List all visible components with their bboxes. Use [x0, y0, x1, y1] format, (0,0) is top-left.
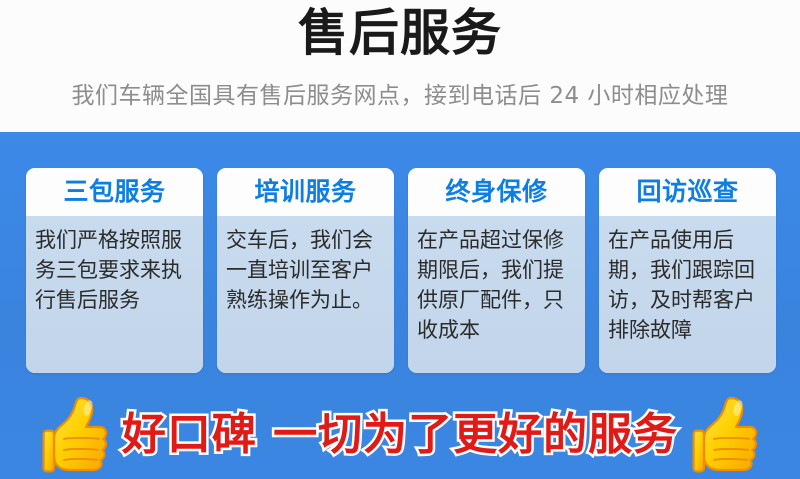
service-card-2[interactable]: 培训服务 交车后，我们会一直培训至客户熟练操作为止。 — [217, 168, 394, 373]
header-section: 售后服务 我们车辆全国具有售后服务网点，接到电话后 24 小时相应处理 — [0, 0, 800, 132]
service-cards-row: 三包服务 我们严格按照服务三包要求来执行售后服务 培训服务 交车后，我们会一直培… — [26, 168, 776, 373]
service-card-4-header: 回访巡查 — [599, 168, 776, 216]
service-card-1[interactable]: 三包服务 我们严格按照服务三包要求来执行售后服务 — [26, 168, 203, 373]
service-card-2-title: 培训服务 — [254, 178, 356, 206]
service-card-2-body: 交车后，我们会一直培训至客户熟练操作为止。 — [217, 216, 394, 373]
thumbs-up-icon — [42, 394, 108, 476]
service-card-4[interactable]: 回访巡查 在产品使用后期，我们跟踪回访，及时帮客户排除故障 — [599, 168, 776, 373]
footer-slogan-text: 好口碑 一切为了更好的服务 — [122, 407, 678, 463]
service-card-4-title: 回访巡查 — [636, 178, 738, 206]
service-card-1-text: 我们严格按照服务三包要求来执行售后服务 — [35, 225, 194, 315]
service-card-3-body: 在产品超过保修期限后，我们提供原厂配件，只收成本 — [408, 216, 585, 373]
blue-content-panel: 三包服务 我们严格按照服务三包要求来执行售后服务 培训服务 交车后，我们会一直培… — [0, 132, 800, 479]
service-card-3[interactable]: 终身保修 在产品超过保修期限后，我们提供原厂配件，只收成本 — [408, 168, 585, 373]
service-card-1-header: 三包服务 — [26, 168, 203, 216]
page-subtitle: 我们车辆全国具有售后服务网点，接到电话后 24 小时相应处理 — [0, 80, 800, 112]
service-card-2-text: 交车后，我们会一直培训至客户熟练操作为止。 — [226, 225, 385, 315]
service-promo-banner: 售后服务 我们车辆全国具有售后服务网点，接到电话后 24 小时相应处理 三包服务… — [0, 0, 800, 479]
service-card-3-header: 终身保修 — [408, 168, 585, 216]
service-card-4-text: 在产品使用后期，我们跟踪回访，及时帮客户排除故障 — [608, 225, 767, 345]
service-card-4-body: 在产品使用后期，我们跟踪回访，及时帮客户排除故障 — [599, 216, 776, 373]
service-card-1-body: 我们严格按照服务三包要求来执行售后服务 — [26, 216, 203, 373]
service-card-1-title: 三包服务 — [63, 178, 165, 206]
service-card-3-text: 在产品超过保修期限后，我们提供原厂配件，只收成本 — [417, 225, 576, 345]
footer-slogan-row: 好口碑 一切为了更好的服务 — [0, 390, 800, 479]
service-card-2-header: 培训服务 — [217, 168, 394, 216]
thumbs-up-icon — [692, 394, 758, 476]
service-card-3-title: 终身保修 — [445, 178, 547, 206]
page-title: 售后服务 — [0, 2, 800, 64]
